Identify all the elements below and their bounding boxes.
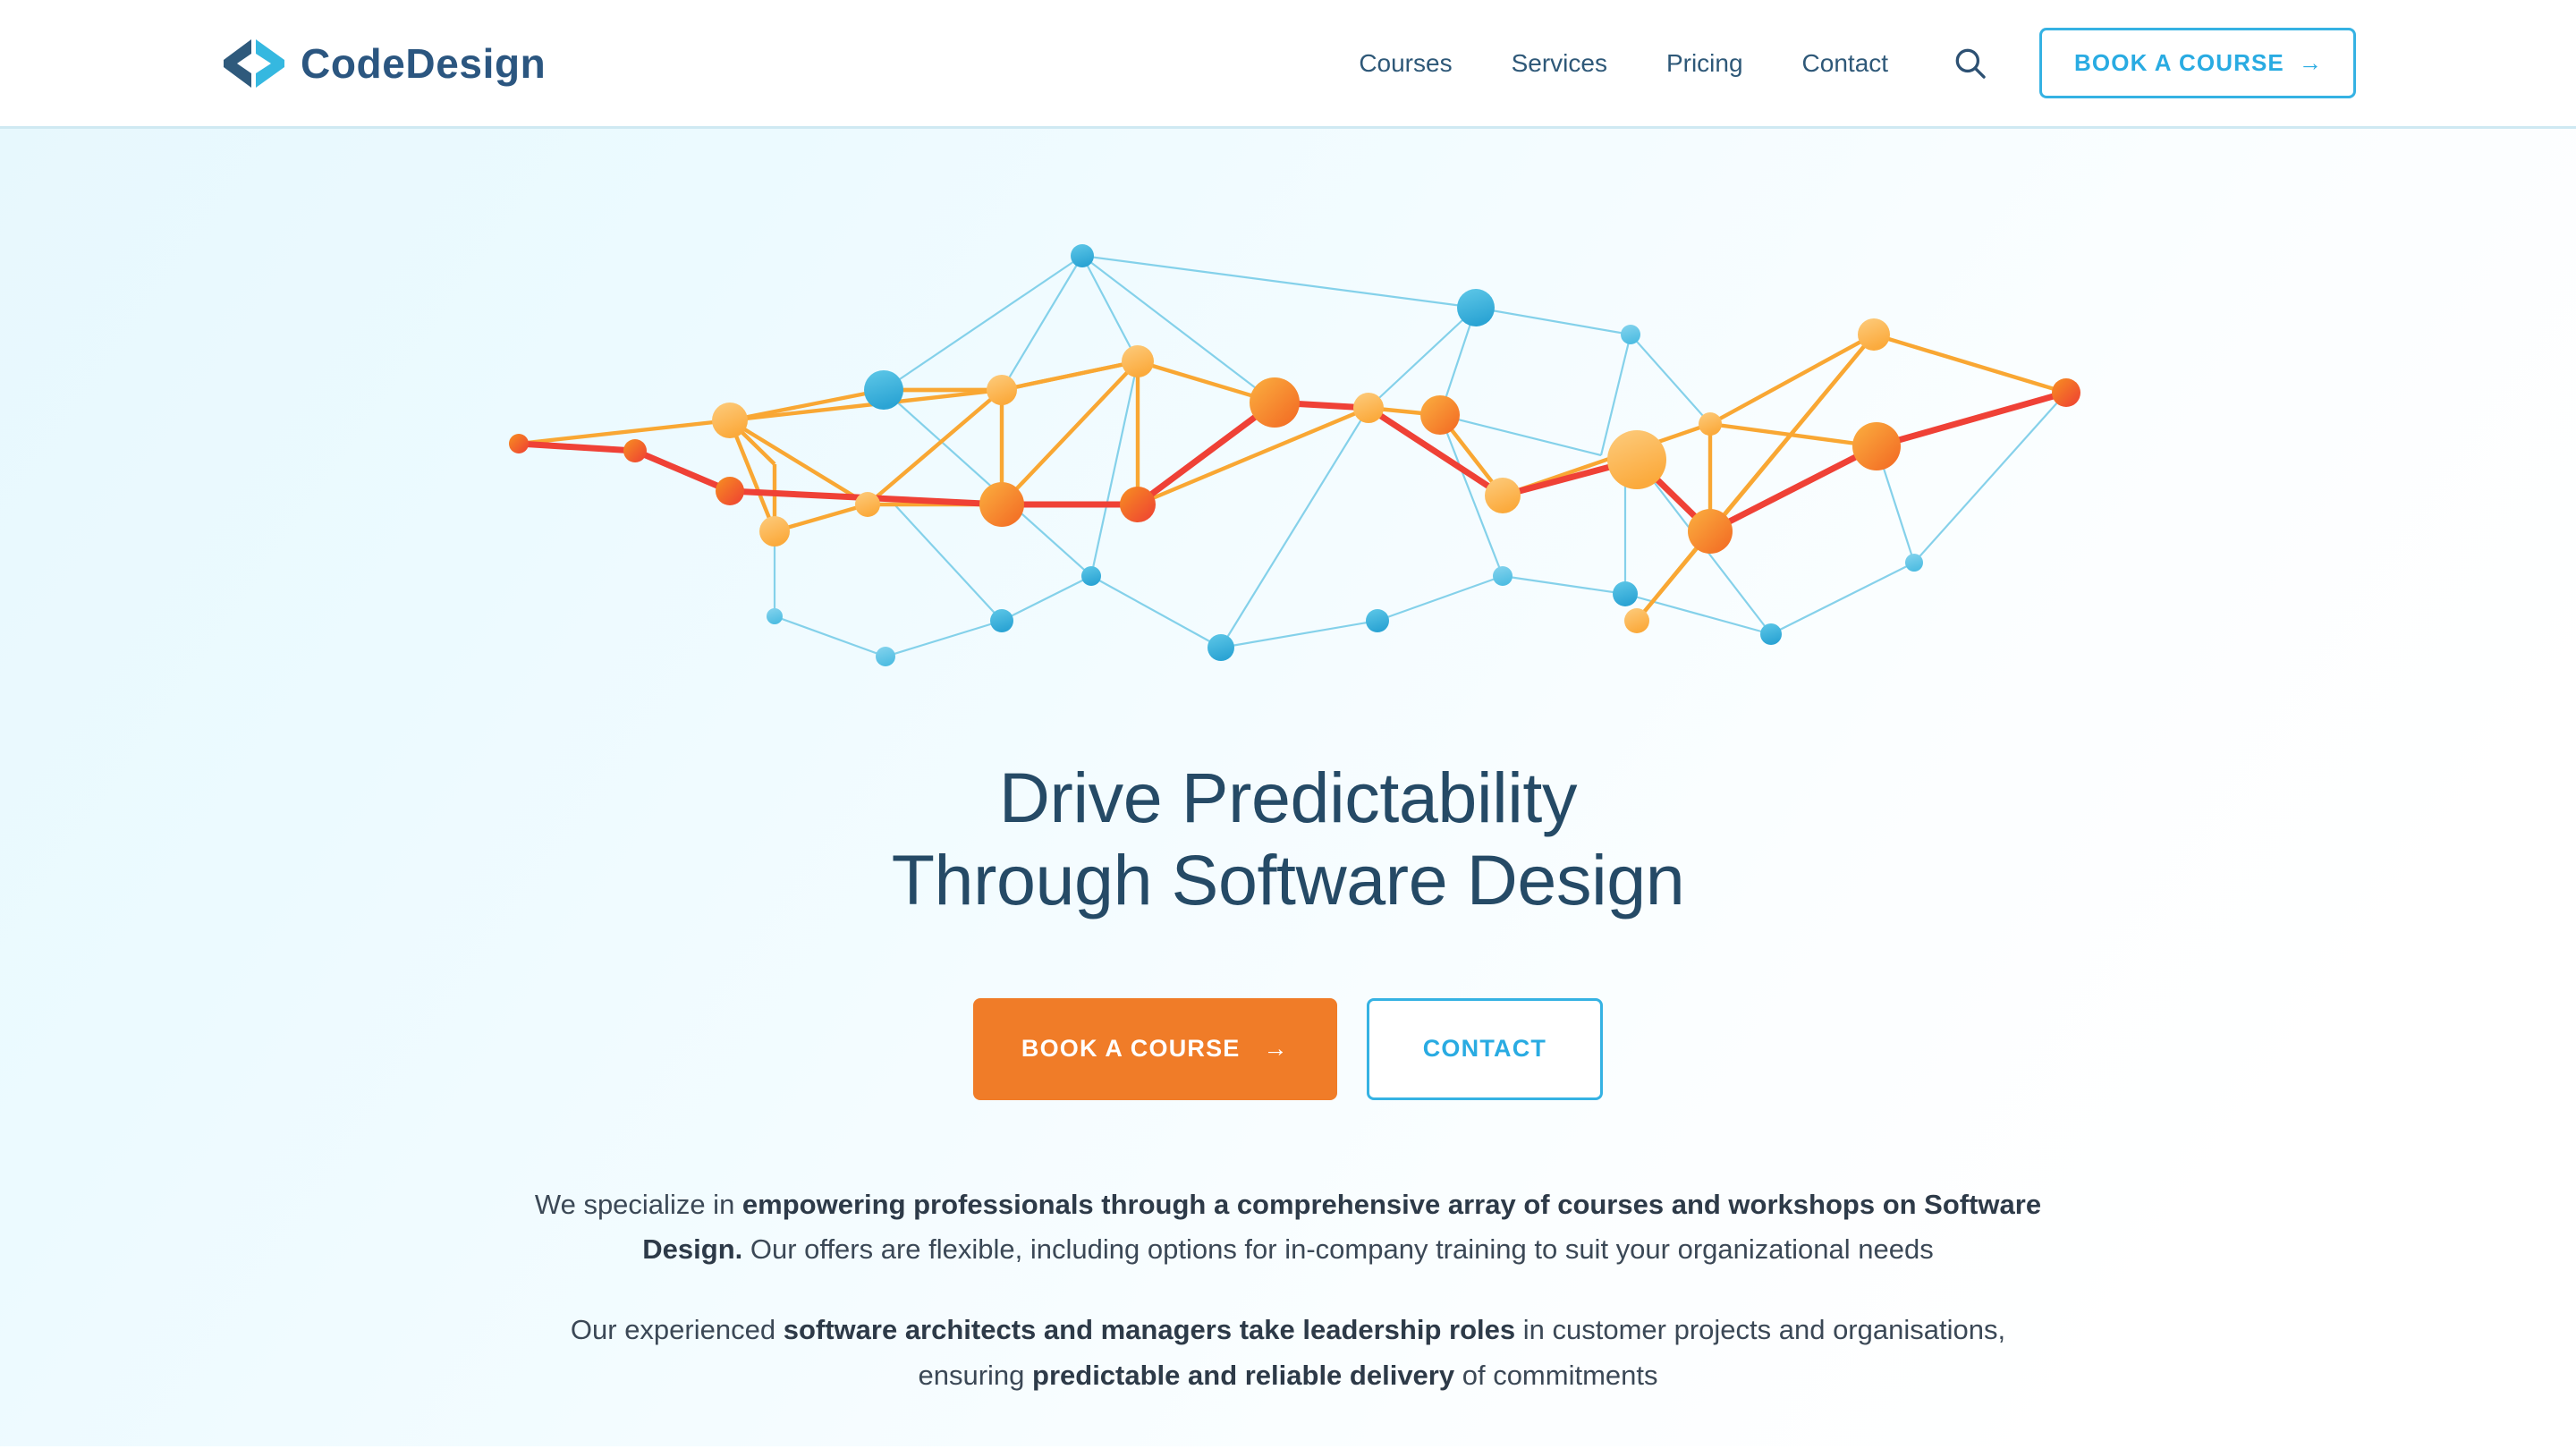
nav-item-pricing[interactable]: Pricing	[1637, 40, 1773, 87]
code-brackets-icon	[222, 36, 288, 91]
para1-tail: Our offers are flexible, including optio…	[742, 1233, 1933, 1265]
arrow-right-icon: →	[2299, 49, 2323, 77]
nav-item-services[interactable]: Services	[1482, 40, 1637, 87]
brand-name-part1: Code	[301, 40, 405, 87]
para2-bold-1: software architects and managers take le…	[784, 1314, 1515, 1345]
search-icon	[1952, 45, 1989, 82]
nav-item-contact[interactable]: Contact	[1773, 40, 1919, 87]
hero-paragraph-1: We specialize in empowering professional…	[523, 1182, 2053, 1272]
site-header: CodeDesign Courses Services Pricing Cont…	[0, 0, 2576, 129]
brand-logo[interactable]: CodeDesign	[222, 36, 546, 91]
para1-lead: We specialize in	[535, 1189, 742, 1220]
network-nodes-illustration	[465, 236, 2111, 701]
para2-bold-2: predictable and reliable delivery	[1032, 1360, 1454, 1391]
hero-section: Drive Predictability Through Software De…	[0, 129, 2576, 1446]
hero-cta-row: BOOK A COURSE → CONTACT	[973, 998, 1603, 1100]
nav-item-courses[interactable]: Courses	[1329, 40, 1481, 87]
hero-description: We specialize in empowering professional…	[523, 1182, 2053, 1398]
header-book-course-button[interactable]: BOOK A COURSE →	[2039, 28, 2356, 98]
hero-headline: Drive Predictability Through Software De…	[892, 757, 1685, 922]
hero-secondary-cta-label: CONTACT	[1423, 1035, 1546, 1063]
headline-line-2: Through Software Design	[892, 839, 1685, 921]
arrow-right-icon: →	[1264, 1035, 1289, 1063]
brand-name: CodeDesign	[301, 39, 546, 88]
para2-lead: Our experienced	[571, 1314, 784, 1345]
headline-line-1: Drive Predictability	[999, 758, 1577, 837]
hero-paragraph-2: Our experienced software architects and …	[523, 1308, 2053, 1397]
search-button[interactable]	[1932, 37, 2009, 90]
hero-book-course-button[interactable]: BOOK A COURSE →	[973, 998, 1337, 1100]
hero-primary-cta-label: BOOK A COURSE	[1021, 1035, 1241, 1063]
brand-name-part2: Design	[405, 40, 546, 87]
primary-navigation: Courses Services Pricing Contact BOOK A …	[1329, 28, 2356, 98]
hero-contact-button[interactable]: CONTACT	[1367, 998, 1603, 1100]
header-cta-label: BOOK A COURSE	[2074, 49, 2284, 77]
para2-tail: of commitments	[1454, 1360, 1657, 1391]
